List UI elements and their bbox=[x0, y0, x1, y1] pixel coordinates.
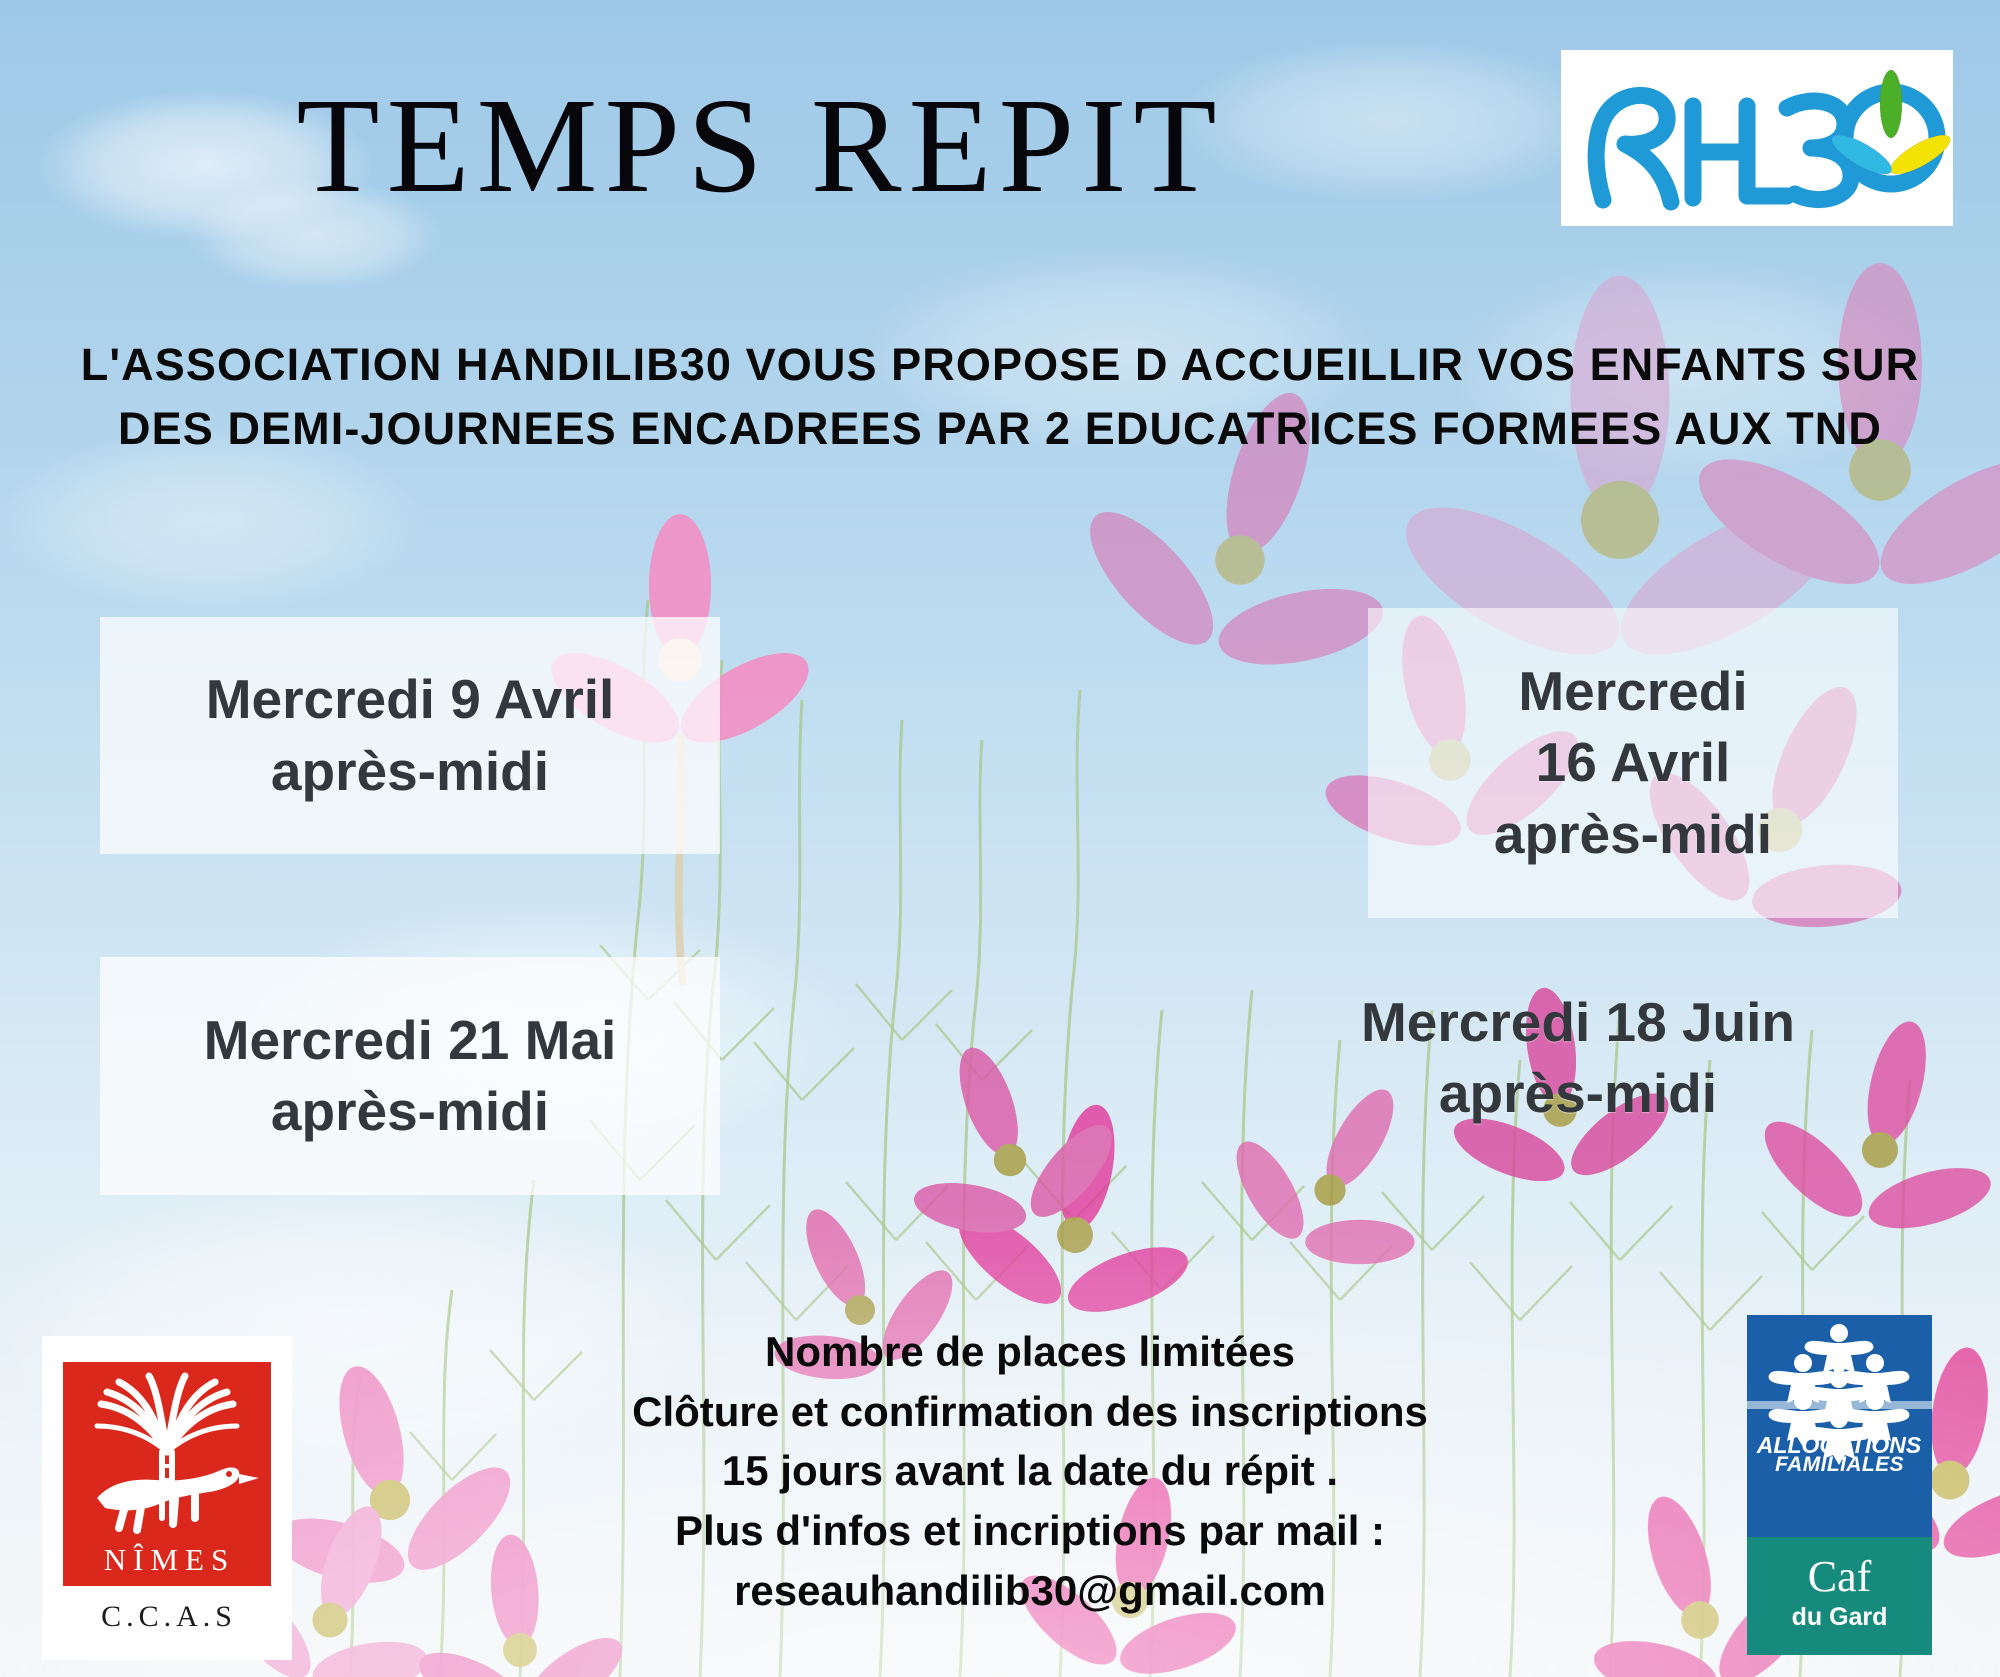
page-title: TEMPS REPIT bbox=[0, 78, 1520, 214]
nimes-logo-mark: NÎMES bbox=[63, 1362, 271, 1586]
nimes-ccas-logo: NÎMES C.C.A.S bbox=[42, 1336, 292, 1660]
info-line-closing: Clôture et confirmation des inscriptions bbox=[440, 1382, 1620, 1442]
date-line: après-midi bbox=[1494, 799, 1772, 871]
date-line: Mercredi 9 Avril bbox=[206, 664, 615, 736]
date-line: après-midi bbox=[271, 736, 549, 808]
date-line: Mercredi 21 Mai bbox=[204, 1005, 617, 1077]
caf-name: Caf bbox=[1808, 1555, 1872, 1599]
poster-canvas: TEMPS REPIT L'ASSOCIATION HAN bbox=[0, 0, 2000, 1677]
date-line: 16 Avril bbox=[1536, 727, 1731, 799]
rh30-logo bbox=[1561, 50, 1953, 226]
palm-crocodile-icon bbox=[63, 1366, 271, 1552]
caf-region: du Gard bbox=[1792, 1603, 1888, 1632]
info-line-contact: Plus d'infos et incriptions par mail : bbox=[440, 1501, 1620, 1561]
date-card-3: Mercredi 21 Mai après-midi bbox=[100, 957, 720, 1195]
date-card-1: Mercredi 9 Avril après-midi bbox=[100, 617, 720, 854]
rh30-logo-mark bbox=[1561, 50, 1953, 226]
contact-email[interactable]: reseauhandilib30@gmail.com bbox=[440, 1561, 1620, 1621]
registration-info: Nombre de places limitées Clôture et con… bbox=[440, 1322, 1620, 1620]
info-line-deadline: 15 jours avant la date du répit . bbox=[440, 1441, 1620, 1501]
caf-logo-top: ALLOCATIONS FAMILIALES bbox=[1747, 1315, 1932, 1537]
caf-logo-bottom: Caf du Gard bbox=[1747, 1537, 1932, 1655]
date-line: Mercredi bbox=[1518, 656, 1747, 728]
date-card-4: Mercredi 18 Juin après-midi bbox=[1248, 967, 1908, 1149]
caf-du-gard-logo: ALLOCATIONS FAMILIALES Caf du Gard bbox=[1747, 1315, 1932, 1655]
date-card-2: Mercredi 16 Avril après-midi bbox=[1368, 608, 1898, 918]
date-line: Mercredi 18 Juin bbox=[1361, 987, 1795, 1059]
date-line: après-midi bbox=[271, 1076, 549, 1148]
caf-familiales-label: FAMILIALES bbox=[1775, 1453, 1904, 1477]
nimes-ccas-subtitle: C.C.A.S bbox=[101, 1600, 237, 1634]
intro-paragraph: L'ASSOCIATION HANDILIB30 VOUS PROPOSE D … bbox=[70, 333, 1930, 461]
info-line-places: Nombre de places limitées bbox=[440, 1322, 1620, 1382]
family-figures-icon: ALLOCATIONS bbox=[1747, 1315, 1932, 1465]
date-line: après-midi bbox=[1439, 1058, 1717, 1130]
